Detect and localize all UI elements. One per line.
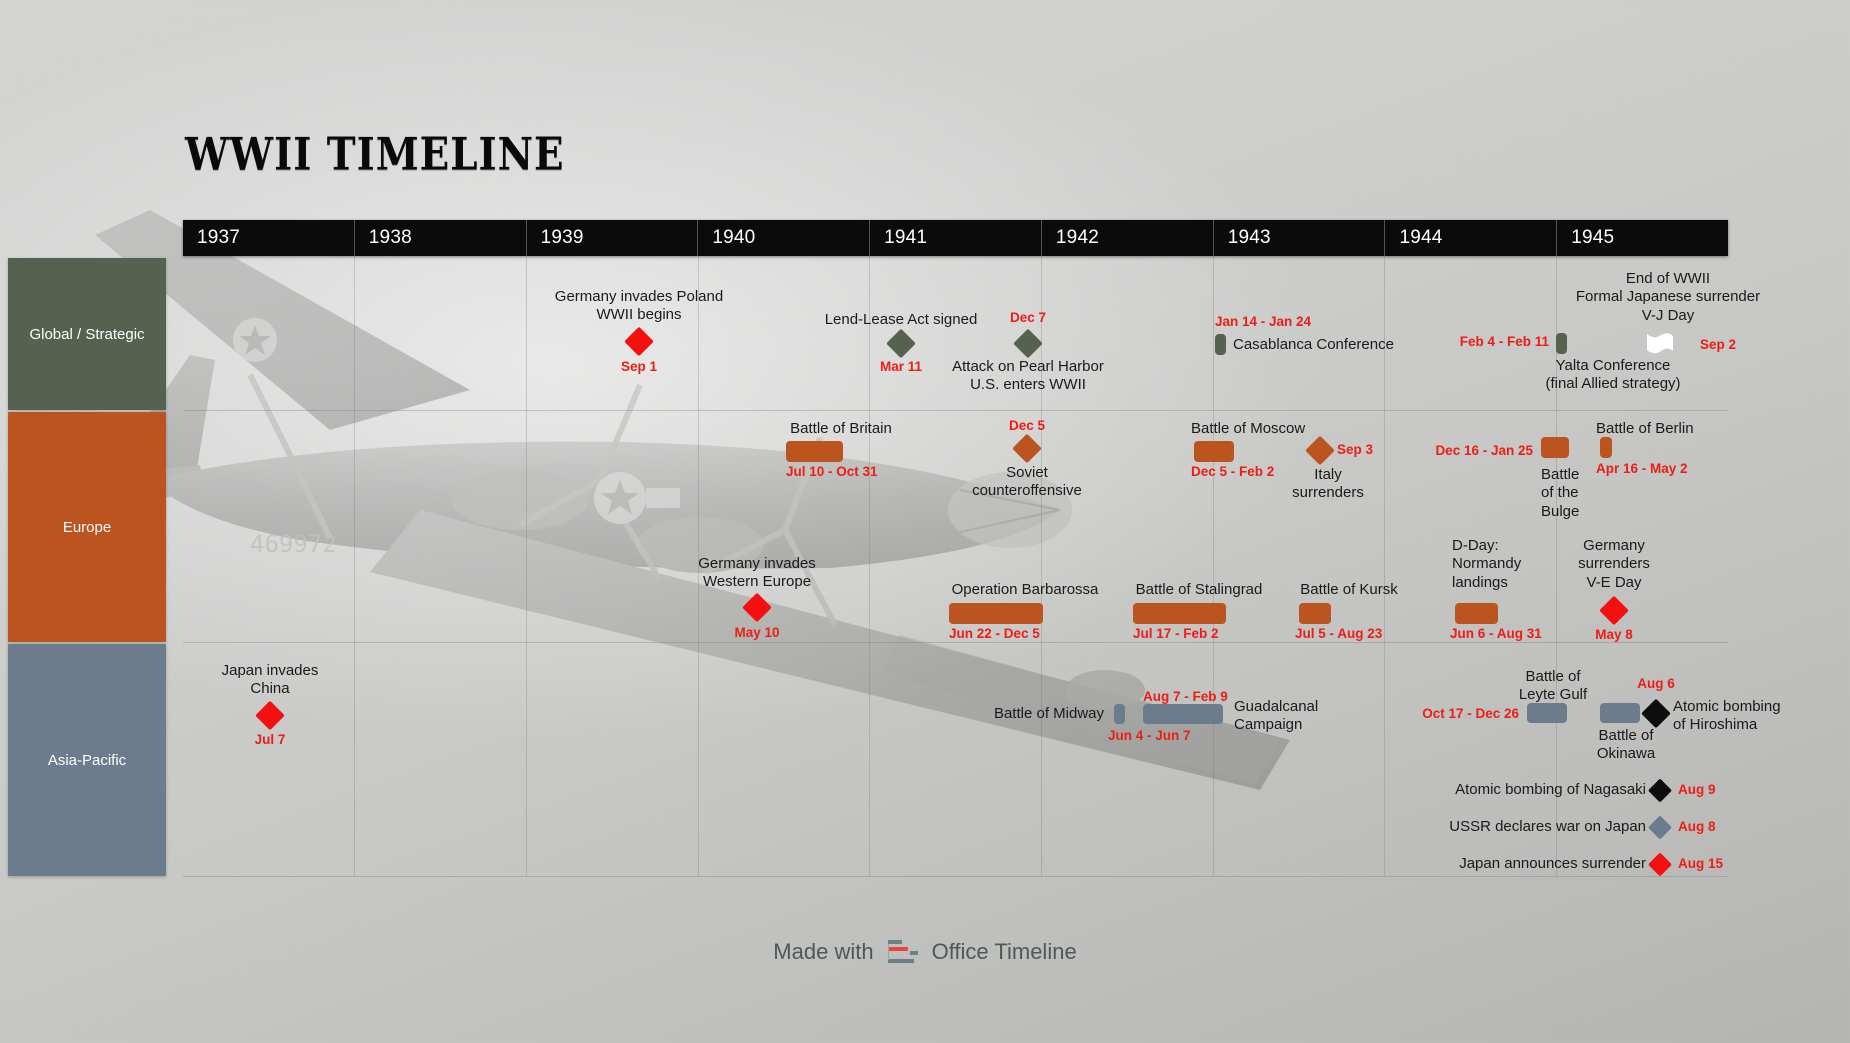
year-cell-1938: 1938 [354,220,526,256]
event-date: Sep 1 [621,360,657,375]
event-label: Atomic bombing of Nagasaki [1286,781,1646,799]
event-label: USSR declares war on Japan [1286,818,1646,836]
lane-separator [183,642,1728,643]
event-date: Jun 6 - Aug 31 [1450,627,1542,642]
event-label: End of WWII Formal Japanese surrender V-… [1498,270,1838,325]
lane-label-text: Europe [63,519,111,536]
event-date: Jul 7 [255,733,286,748]
duration-bar-orange[interactable] [949,603,1043,624]
event-label: Soviet counteroffensive [917,464,1137,501]
event-date: Dec 5 [1009,419,1045,434]
event-label: Italy surrenders [1253,466,1403,503]
event-label: Attack on Pearl Harbor U.S. enters WWII [883,358,1173,395]
year-cell-1942: 1942 [1041,220,1213,256]
event-label: Battle of Kursk [1244,581,1454,599]
event-date: Jul 10 - Oct 31 [786,465,878,480]
event-date: Feb 4 - Feb 11 [1460,335,1549,350]
year-cell-1945: 1945 [1556,220,1728,256]
event-date: Aug 15 [1678,857,1723,872]
office-timeline-logo-icon [886,938,920,966]
event-date: Sep 2 [1700,338,1736,353]
event-date: Aug 8 [1678,820,1716,835]
event-label: Germany invades Poland WWII begins [524,288,754,325]
year-cell-1939: 1939 [526,220,698,256]
event-date: Apr 16 - May 2 [1596,462,1688,477]
white-flag-icon[interactable] [1645,332,1675,356]
year-axis-header: 1937 1938 1939 1940 1941 1942 1943 1944 … [183,220,1728,256]
duration-bar-green[interactable] [1215,334,1226,355]
event-date: Jul 17 - Feb 2 [1133,627,1219,642]
footer-attribution: Made with Office Timeline [0,938,1850,966]
event-date: May 8 [1595,628,1633,643]
event-date: Sep 3 [1337,443,1373,458]
year-cell-1940: 1940 [697,220,869,256]
event-date: Aug 7 - Feb 9 [1143,690,1228,705]
lane-label-text: Global / Strategic [29,326,144,343]
lane-label-europe[interactable]: Europe [8,412,166,642]
duration-bar-orange[interactable] [786,441,843,462]
event-label: Battle of Berlin [1596,420,1796,438]
event-label: Germany invades Western Europe [642,555,872,592]
year-cell-1943: 1943 [1213,220,1385,256]
event-label: Lend-Lease Act signed [776,311,1026,329]
year-cell-1941: 1941 [869,220,1041,256]
event-date: Oct 17 - Dec 26 [1422,707,1519,722]
lane-label-global-strategic[interactable]: Global / Strategic [8,258,166,410]
event-date: Jun 22 - Dec 5 [949,627,1040,642]
event-date: Aug 6 [1637,677,1675,692]
event-label: Battle of Leyte Gulf [1488,668,1618,705]
event-date: Dec 16 - Jan 25 [1435,444,1533,459]
footer-brand-text: Office Timeline [932,939,1077,965]
duration-bar-slate[interactable] [1527,703,1567,723]
event-label: Germany surrenders V-E Day [1524,537,1704,592]
event-label: Battle of the Bulge [1541,466,1601,521]
event-label: Battle of Okinawa [1571,727,1681,764]
event-label: Yalta Conference (final Allied strategy) [1498,357,1728,394]
event-date: Jun 4 - Jun 7 [1108,729,1191,744]
duration-bar-orange[interactable] [1299,603,1331,624]
lane-separator [183,876,1728,877]
event-label: Japan invades China [170,662,370,699]
duration-bar-slate[interactable] [1143,704,1223,724]
event-date: Aug 9 [1678,783,1716,798]
year-cell-1937: 1937 [183,220,354,256]
event-label: Battle of Midway [884,705,1104,723]
event-label: Battle of Britain [736,420,946,438]
event-date: Jul 5 - Aug 23 [1295,627,1382,642]
footer-made-with-text: Made with [773,939,873,965]
event-date: May 10 [734,626,779,641]
duration-bar-slate[interactable] [1114,704,1125,724]
event-date: Dec 7 [1010,311,1046,326]
lane-separator [183,410,1728,411]
year-cell-1944: 1944 [1384,220,1556,256]
lane-label-text: Asia-Pacific [48,752,126,769]
event-label: Japan announces surrender [1286,855,1646,873]
duration-bar-green[interactable] [1556,333,1567,354]
lane-label-asia-pacific[interactable]: Asia-Pacific [8,644,166,876]
duration-bar-slate[interactable] [1600,703,1640,723]
duration-bar-orange[interactable] [1600,437,1612,458]
event-label: Guadalcanal Campaign [1234,698,1394,735]
duration-bar-orange[interactable] [1455,603,1498,624]
event-date: Jan 14 - Jan 24 [1215,315,1311,330]
event-label: Atomic bombing of Hiroshima [1673,698,1850,735]
duration-bar-orange[interactable] [1541,437,1569,458]
duration-bar-orange[interactable] [1194,441,1234,462]
event-label: Battle of Moscow [1191,420,1411,438]
duration-bar-orange[interactable] [1133,603,1226,624]
page-title: WWII TIMELINE [185,128,565,181]
